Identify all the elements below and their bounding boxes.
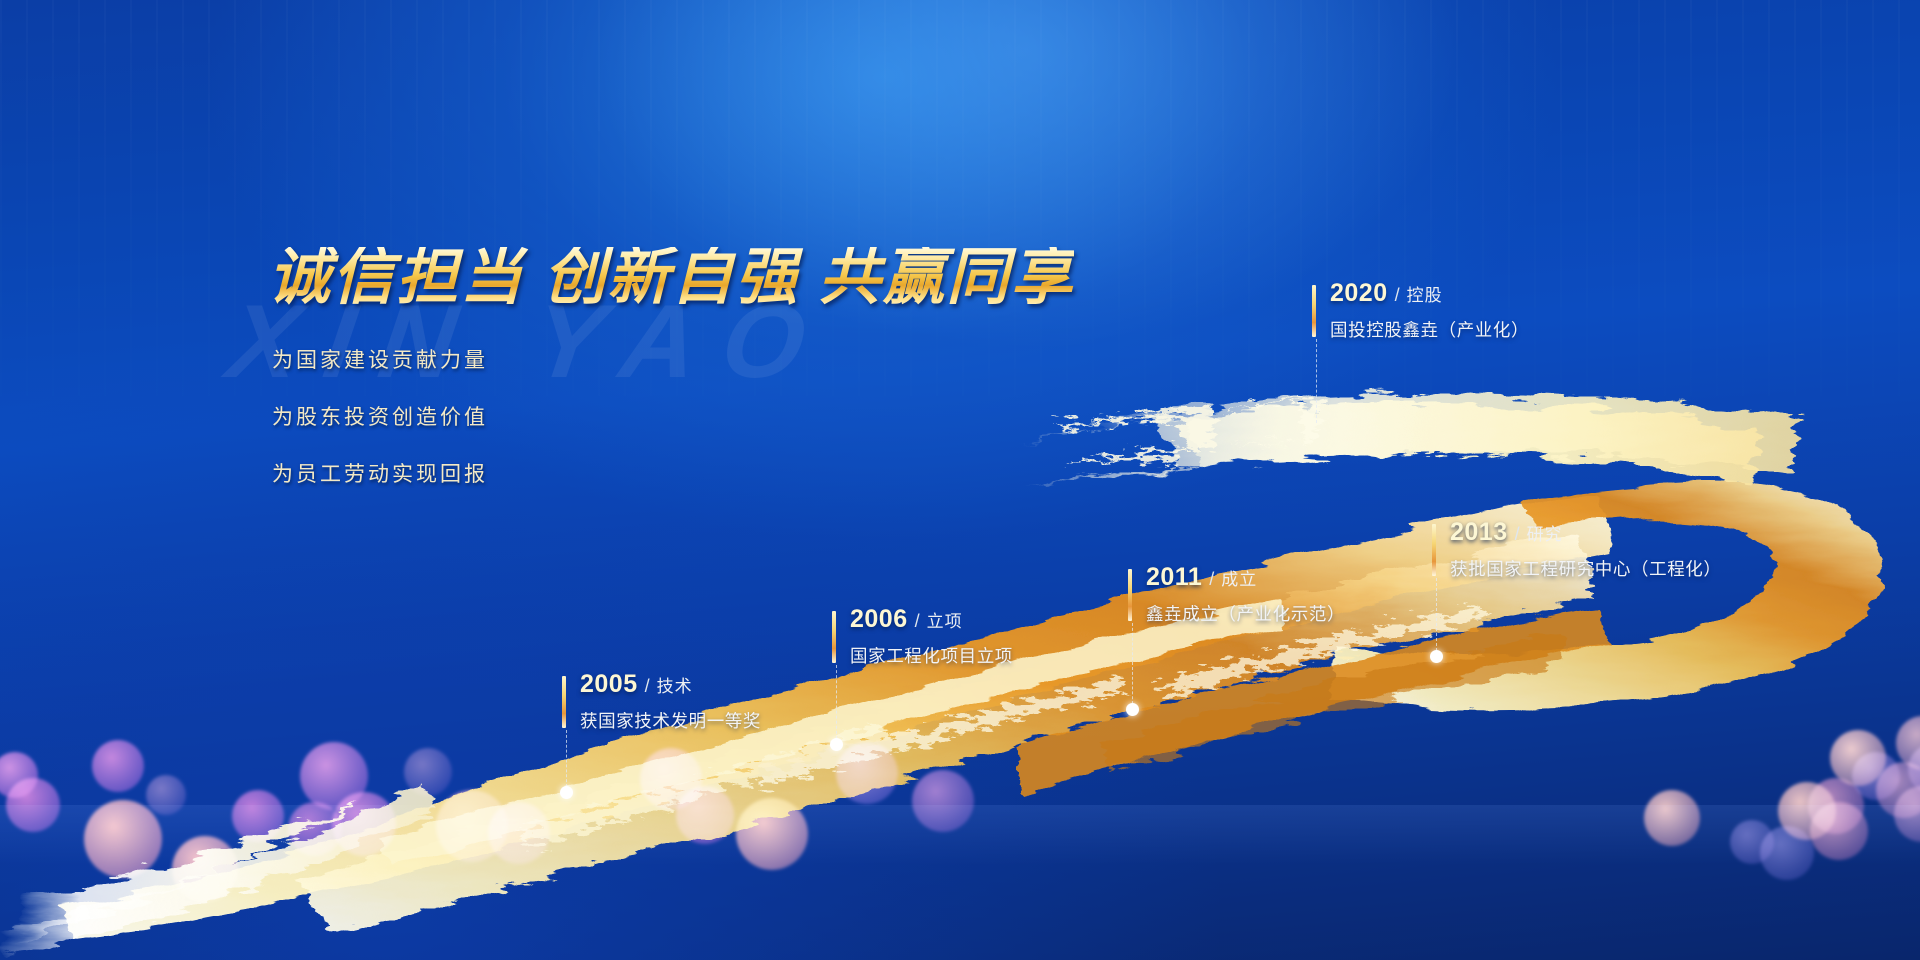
bokeh-circle xyxy=(1894,786,1920,842)
milestone-accent-bar xyxy=(832,611,836,663)
bokeh-circle xyxy=(912,770,974,832)
milestone-separator: / xyxy=(1395,285,1400,306)
milestone-description: 国家工程化项目立项 xyxy=(850,643,1013,668)
milestone-leader-2020 xyxy=(1316,339,1317,423)
slogan-line-3: 为员工劳动实现回报 xyxy=(272,458,488,488)
milestone-dot-2005[interactable] xyxy=(560,786,573,799)
bokeh-circle xyxy=(404,748,452,796)
milestone-separator: / xyxy=(1209,569,1214,590)
milestone-leader-2006 xyxy=(836,665,837,744)
milestone-year: 2006 xyxy=(850,607,908,632)
bokeh-circle xyxy=(92,740,144,792)
bokeh-circle xyxy=(172,836,238,902)
bokeh-circle xyxy=(146,775,186,815)
milestone-dot-2011[interactable] xyxy=(1126,703,1139,716)
bokeh-circle xyxy=(1852,752,1900,800)
milestone-accent-bar xyxy=(1128,569,1132,621)
milestone-2013[interactable]: 2013 / 研究 获批国家工程研究中心（工程化） xyxy=(1432,520,1722,581)
slogan-line-2: 为股东投资创造价值 xyxy=(272,401,488,431)
milestone-tag: 控股 xyxy=(1407,281,1443,306)
bokeh-circle xyxy=(332,792,396,856)
bokeh-circle xyxy=(1760,826,1814,880)
background-horizon-band xyxy=(0,805,1920,865)
page-title: 诚信担当 创新自强 共赢同享 xyxy=(268,247,1074,309)
milestone-separator: / xyxy=(915,611,920,632)
milestone-2020[interactable]: 2020 / 控股 国投控股鑫垚（产业化） xyxy=(1312,281,1529,342)
milestone-year: 2005 xyxy=(580,672,638,697)
milestone-leader-2013 xyxy=(1436,578,1437,656)
bokeh-circle xyxy=(1730,820,1774,864)
bokeh-circle xyxy=(84,800,162,878)
milestone-year: 2013 xyxy=(1450,520,1508,545)
milestone-tag: 立项 xyxy=(927,607,963,632)
bokeh-circle xyxy=(1644,790,1700,846)
bokeh-circle xyxy=(1876,762,1920,818)
milestone-description: 国投控股鑫垚（产业化） xyxy=(1330,317,1529,342)
bokeh-circle xyxy=(436,790,508,862)
bokeh-circle xyxy=(640,748,702,810)
poster-canvas: XIN YAO 诚信担当 创新自强 共赢同享 为国家建设贡献力量 为股东投资创造… xyxy=(0,0,1920,960)
bokeh-circle xyxy=(1810,802,1868,860)
milestone-tag: 研究 xyxy=(1527,520,1563,545)
milestone-2006[interactable]: 2006 / 立项 国家工程化项目立项 xyxy=(832,607,1013,668)
headline-block: XIN YAO 诚信担当 创新自强 共赢同享 xyxy=(268,247,1074,309)
bokeh-circle xyxy=(1808,778,1864,834)
milestone-leader-2005 xyxy=(566,730,567,792)
bokeh-circle xyxy=(1908,744,1920,794)
bokeh-circle xyxy=(6,778,60,832)
bokeh-circle xyxy=(1778,782,1836,840)
milestone-accent-bar xyxy=(1432,524,1436,576)
bokeh-circle xyxy=(1896,716,1920,770)
milestone-accent-bar xyxy=(1312,285,1316,337)
slogan-line-1: 为国家建设贡献力量 xyxy=(272,344,488,374)
milestone-description: 获批国家工程研究中心（工程化） xyxy=(1450,556,1722,581)
milestone-leader-2011 xyxy=(1132,623,1133,709)
milestone-tag: 成立 xyxy=(1221,565,1257,590)
bokeh-circle xyxy=(836,742,898,804)
bokeh-circle xyxy=(232,790,284,842)
milestone-tag: 技术 xyxy=(657,672,693,697)
milestone-description: 鑫垚成立（产业化示范） xyxy=(1146,601,1345,626)
milestone-2011[interactable]: 2011 / 成立 鑫垚成立（产业化示范） xyxy=(1128,565,1345,626)
milestone-accent-bar xyxy=(562,676,566,728)
bokeh-circle xyxy=(0,752,38,798)
milestone-2005[interactable]: 2005 / 技术 获国家技术发明一等奖 xyxy=(562,672,761,733)
bokeh-circle xyxy=(300,742,368,810)
bokeh-circle xyxy=(676,786,734,844)
bokeh-circle xyxy=(1830,730,1886,786)
milestone-year: 2011 xyxy=(1146,565,1202,590)
milestone-description: 获国家技术发明一等奖 xyxy=(580,708,761,733)
milestone-dot-2006[interactable] xyxy=(830,738,843,751)
bokeh-circle xyxy=(488,802,550,864)
milestone-year: 2020 xyxy=(1330,281,1388,306)
milestone-dot-2013[interactable] xyxy=(1430,650,1443,663)
bokeh-circle xyxy=(288,802,342,856)
bokeh-circle xyxy=(736,798,808,870)
milestone-separator: / xyxy=(1515,524,1520,545)
slogan-list: 为国家建设贡献力量 为股东投资创造价值 为员工劳动实现回报 xyxy=(272,344,488,515)
milestone-separator: / xyxy=(645,676,650,697)
